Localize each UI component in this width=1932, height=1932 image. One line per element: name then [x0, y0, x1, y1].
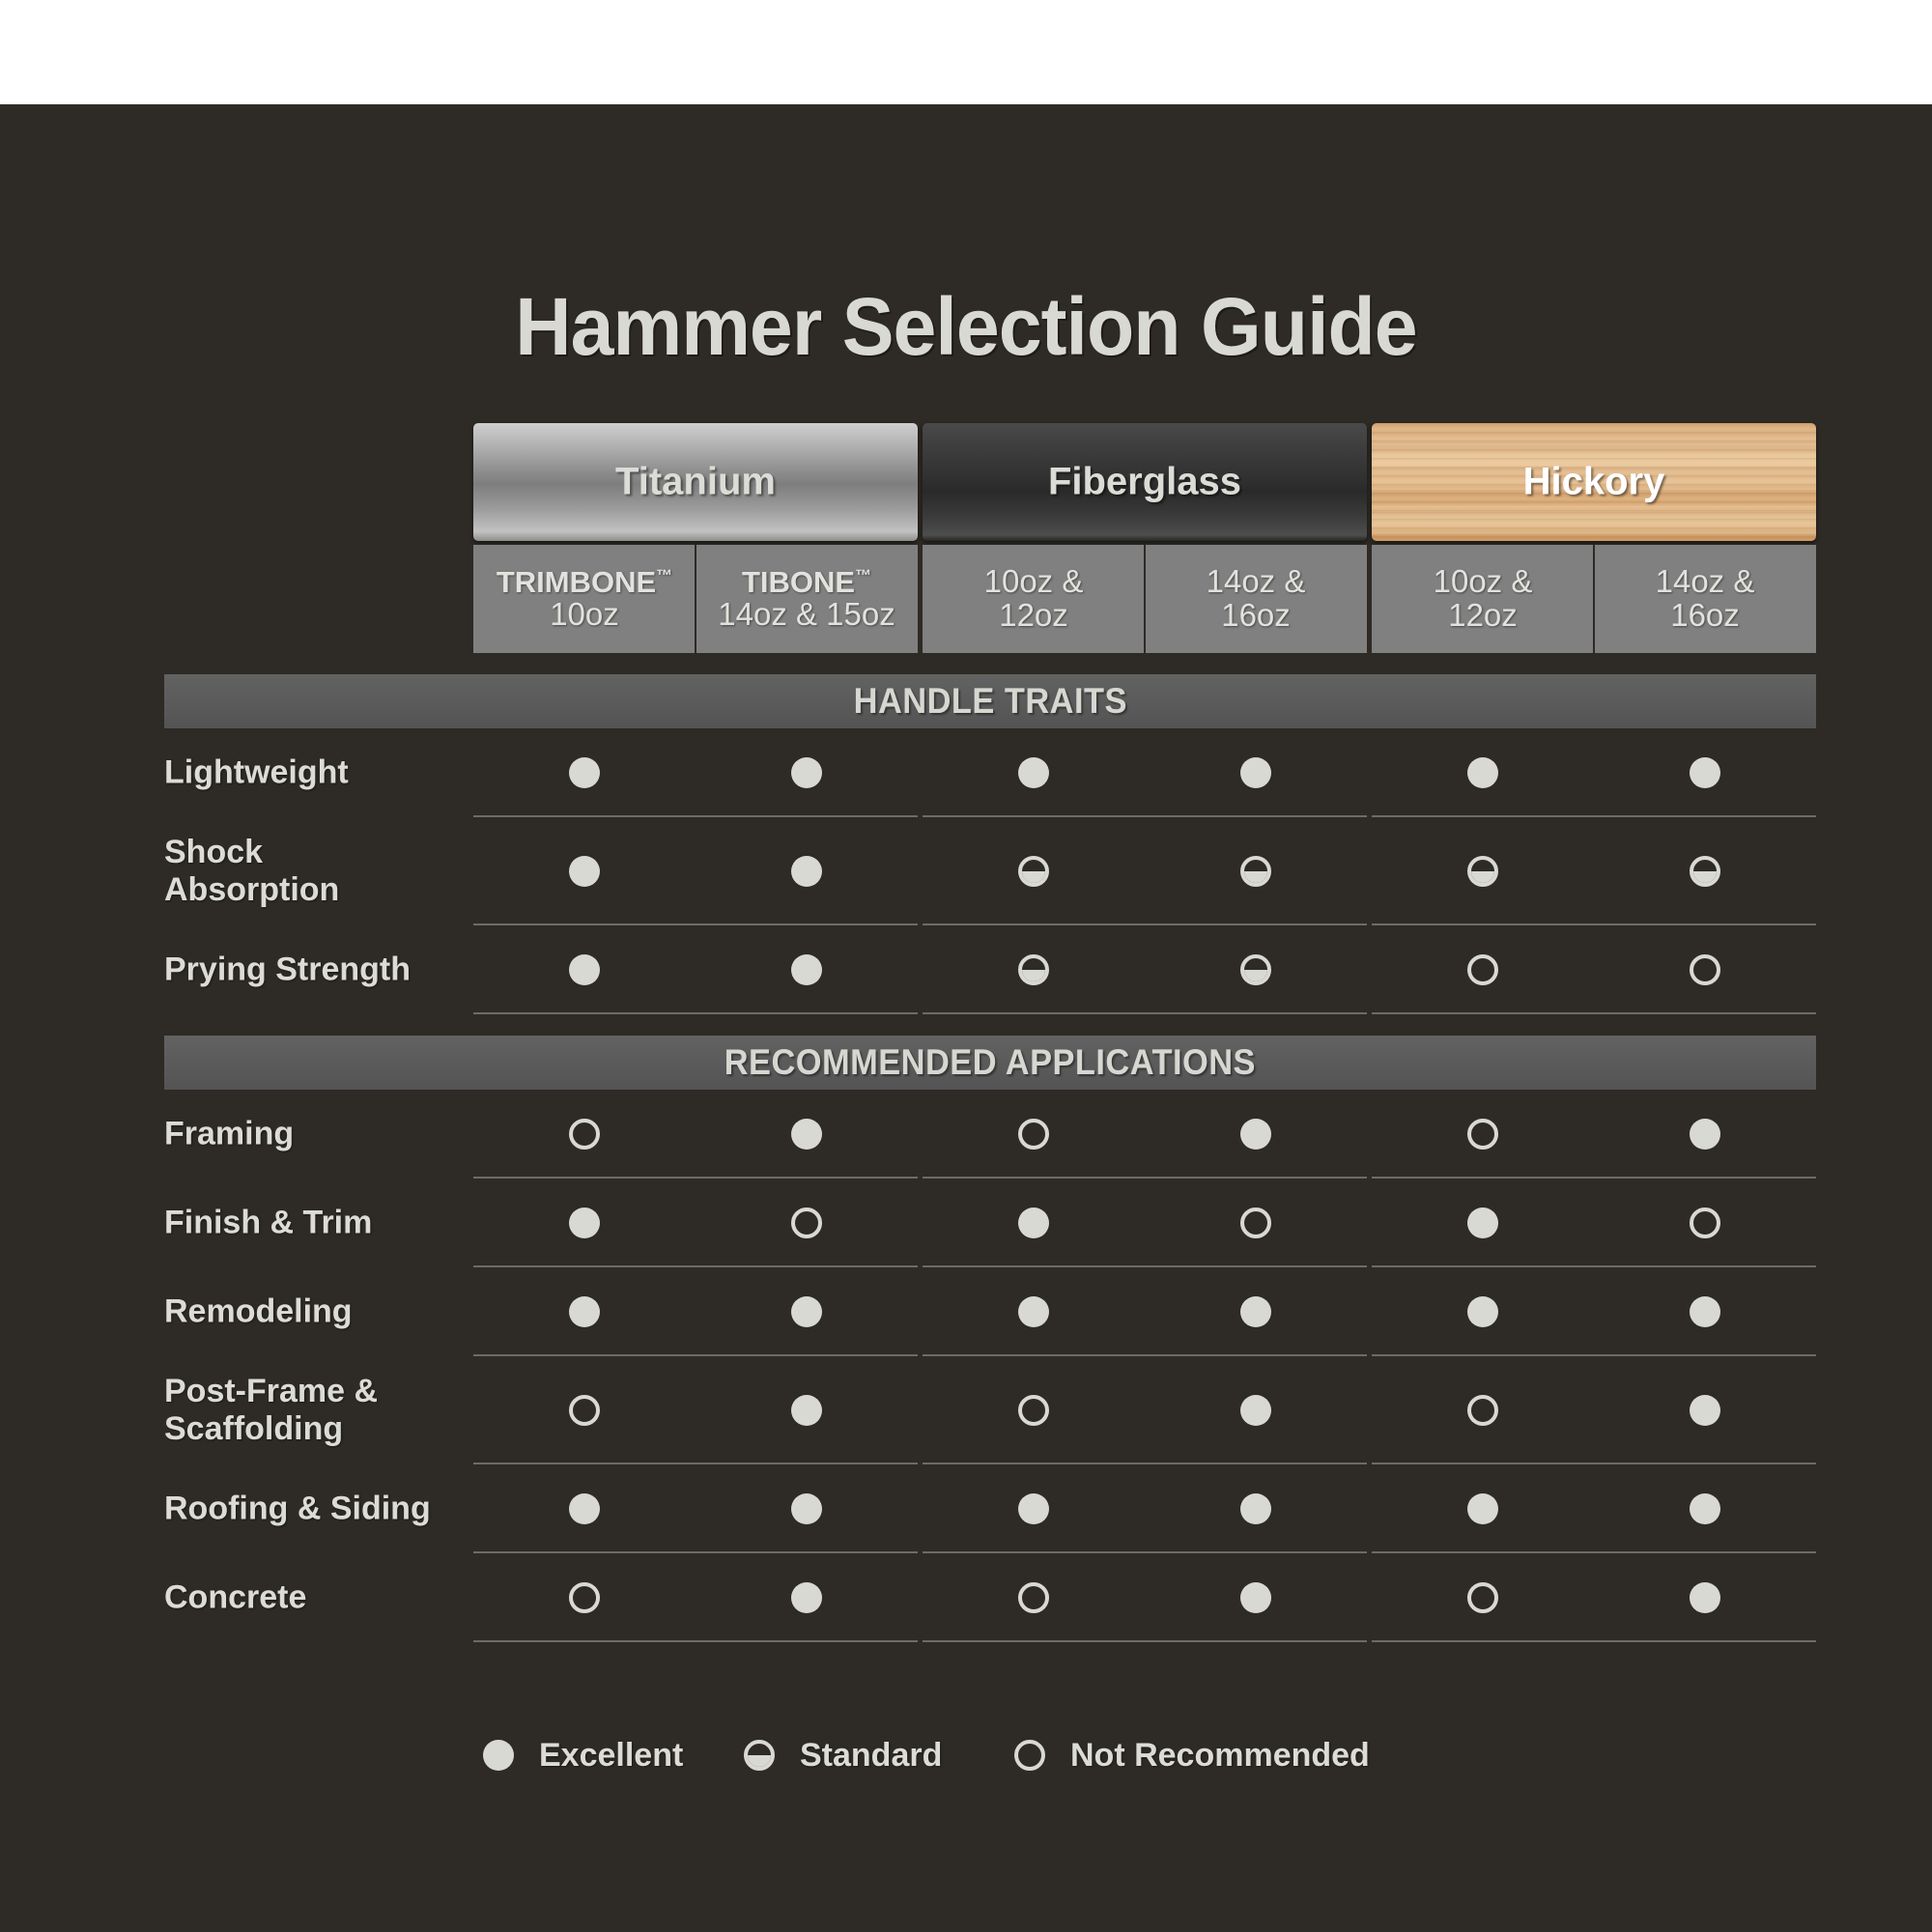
rating-cell [1227, 856, 1285, 887]
rating-full-icon [1690, 757, 1720, 788]
rating-cell [1676, 1296, 1734, 1327]
rating-full-icon [1690, 1296, 1720, 1327]
rating-cell [1005, 856, 1063, 887]
material-header-label: Fiberglass [923, 461, 1367, 504]
rating-cell [1676, 1493, 1734, 1524]
rating-full-icon [1690, 1119, 1720, 1150]
column-header-4: 14oz &16oz [1145, 545, 1367, 653]
row-label: Post-Frame &Scaffolding [164, 1373, 454, 1448]
rating-full-icon [569, 856, 600, 887]
row-divider [473, 1640, 918, 1642]
rating-cell [1005, 954, 1063, 985]
rating-full-icon [1018, 757, 1049, 788]
rating-cell [1454, 1296, 1512, 1327]
sections-container: HANDLE TRAITSLightweightShockAbsorptionP… [164, 674, 1816, 1642]
rating-half-icon [1018, 954, 1049, 985]
legend-item-label: Excellent [539, 1737, 683, 1775]
rating-cell [1227, 1582, 1285, 1613]
column-subheader-row: TRIMBONE™10ozTIBONE™14oz & 15oz10oz &12o… [164, 545, 1816, 653]
rating-full-icon [1240, 1296, 1271, 1327]
material-header-hickory: Hickory [1372, 423, 1816, 541]
rating-full-icon [1690, 1582, 1720, 1613]
rating-full-icon [791, 954, 822, 985]
table-row: Lightweight [164, 728, 1816, 817]
rating-cell [1005, 1119, 1063, 1150]
comparison-table: TitaniumFiberglassHickory TRIMBONE™10ozT… [164, 423, 1816, 1642]
rating-full-icon [1467, 1296, 1498, 1327]
rating-cell [1227, 1207, 1285, 1238]
table-row: Roofing & Siding [164, 1464, 1816, 1553]
rating-half-icon [1240, 856, 1271, 887]
rating-open-icon [569, 1395, 600, 1426]
rating-cell [778, 954, 836, 985]
row-label: Framing [164, 1115, 454, 1152]
rating-cell [1676, 1119, 1734, 1150]
rating-cell [1227, 1395, 1285, 1426]
legend-item-label: Standard [800, 1737, 942, 1775]
rating-cell [778, 1493, 836, 1524]
rating-cell [1676, 1395, 1734, 1426]
rating-open-icon [1467, 1395, 1498, 1426]
column-header-label: 14oz &16oz [1656, 565, 1755, 633]
rating-full-icon [1018, 1207, 1049, 1238]
row-label: Roofing & Siding [164, 1490, 454, 1527]
rating-full-icon [569, 1207, 600, 1238]
section-heading-label: RECOMMENDED APPLICATIONS [724, 1042, 1256, 1083]
rating-open-icon [1018, 1395, 1049, 1426]
rating-open-icon [1018, 1582, 1049, 1613]
table-row: Concrete [164, 1553, 1816, 1642]
rating-cell [1454, 1119, 1512, 1150]
rating-full-icon [483, 1740, 514, 1771]
rating-cell [555, 856, 613, 887]
table-row: Post-Frame &Scaffolding [164, 1356, 1816, 1464]
rating-full-icon [1240, 1119, 1271, 1150]
rating-half-icon [1467, 856, 1498, 887]
rating-cell [555, 1395, 613, 1426]
rating-cell [555, 1119, 613, 1150]
rating-full-icon [1467, 757, 1498, 788]
rating-open-icon [1690, 1207, 1720, 1238]
rating-cell [555, 1493, 613, 1524]
table-row: ShockAbsorption [164, 817, 1816, 925]
material-header-row: TitaniumFiberglassHickory [164, 423, 1816, 541]
guide-card: Hammer Selection Guide TitaniumFiberglas… [0, 104, 1932, 1932]
section-heading-2: RECOMMENDED APPLICATIONS [164, 1036, 1816, 1090]
row-divider [1372, 1640, 1816, 1642]
column-header-label: 14oz &16oz [1207, 565, 1306, 633]
table-row: Framing [164, 1090, 1816, 1179]
section-heading-1: HANDLE TRAITS [164, 674, 1816, 728]
section-heading-label: HANDLE TRAITS [853, 681, 1126, 722]
row-label: Concrete [164, 1578, 454, 1616]
column-header-label: TRIMBONE™10oz [497, 566, 672, 633]
rating-cell [1454, 1207, 1512, 1238]
row-label: Remodeling [164, 1293, 454, 1330]
rating-full-icon [1240, 1493, 1271, 1524]
rating-full-icon [1240, 1395, 1271, 1426]
rating-cell [1227, 757, 1285, 788]
rating-full-icon [791, 757, 822, 788]
rating-cell [1005, 1582, 1063, 1613]
rating-full-icon [1690, 1395, 1720, 1426]
rating-cell [778, 1207, 836, 1238]
rating-cell [1005, 1207, 1063, 1238]
rating-full-icon [1240, 757, 1271, 788]
table-row: Prying Strength [164, 925, 1816, 1014]
rating-cell [1676, 1582, 1734, 1613]
rating-cell [1454, 1582, 1512, 1613]
rating-full-icon [1240, 1582, 1271, 1613]
legend-item-full: Excellent [483, 1721, 683, 1789]
page-root: Hammer Selection Guide TitaniumFiberglas… [0, 0, 1932, 1932]
rating-full-icon [791, 1395, 822, 1426]
rating-cell [1454, 954, 1512, 985]
rating-full-icon [569, 1296, 600, 1327]
rating-cell [778, 1395, 836, 1426]
material-header-fiberglass: Fiberglass [923, 423, 1367, 541]
material-header-label: Hickory [1372, 461, 1816, 504]
rating-full-icon [1018, 1296, 1049, 1327]
rating-half-icon [1240, 954, 1271, 985]
column-header-3: 10oz &12oz [923, 545, 1145, 653]
rating-cell [555, 757, 613, 788]
legend-item-half: Standard [744, 1721, 942, 1789]
rating-full-icon [1018, 1493, 1049, 1524]
material-header-titanium: Titanium [473, 423, 918, 541]
table-row: Finish & Trim [164, 1179, 1816, 1267]
rating-full-icon [569, 954, 600, 985]
legend-item-label: Not Recommended [1070, 1737, 1370, 1775]
rating-cell [1227, 1296, 1285, 1327]
rating-full-icon [791, 1296, 822, 1327]
rating-open-icon [1467, 1582, 1498, 1613]
rating-full-icon [1467, 1207, 1498, 1238]
rating-full-icon [569, 757, 600, 788]
column-header-label: TIBONE™14oz & 15oz [718, 566, 895, 633]
column-header-6: 14oz &16oz [1594, 545, 1816, 653]
rating-cell [1676, 954, 1734, 985]
row-divider [923, 1640, 1367, 1642]
row-divider [1372, 1012, 1816, 1014]
rating-open-icon [791, 1207, 822, 1238]
rating-cell [555, 1207, 613, 1238]
rating-cell [1005, 757, 1063, 788]
row-label: Finish & Trim [164, 1204, 454, 1241]
column-header-5: 10oz &12oz [1372, 545, 1594, 653]
rating-full-icon [1690, 1493, 1720, 1524]
rating-open-icon [569, 1119, 600, 1150]
rating-cell [778, 1582, 836, 1613]
rating-cell [1454, 856, 1512, 887]
rating-full-icon [791, 856, 822, 887]
rating-open-icon [1467, 1119, 1498, 1150]
material-header-label: Titanium [473, 461, 918, 504]
rating-open-icon [1240, 1207, 1271, 1238]
rating-full-icon [791, 1582, 822, 1613]
legend-item-open: Not Recommended [1014, 1721, 1370, 1789]
rating-open-icon [1018, 1119, 1049, 1150]
rating-open-icon [1690, 954, 1720, 985]
rating-full-icon [791, 1119, 822, 1150]
rating-open-icon [1467, 954, 1498, 985]
rating-half-icon [1690, 856, 1720, 887]
rating-cell [1676, 856, 1734, 887]
rating-cell [1227, 1493, 1285, 1524]
legend: ExcellentStandardNot Recommended [164, 1721, 1816, 1789]
column-header-1: TRIMBONE™10oz [473, 545, 696, 653]
page-title: Hammer Selection Guide [39, 280, 1893, 374]
rating-cell [778, 856, 836, 887]
rating-half-icon [744, 1740, 775, 1771]
column-header-2: TIBONE™14oz & 15oz [696, 545, 918, 653]
row-label: ShockAbsorption [164, 834, 454, 909]
rating-cell [778, 1119, 836, 1150]
rating-cell [1005, 1395, 1063, 1426]
rating-cell [555, 1296, 613, 1327]
rating-cell [1227, 1119, 1285, 1150]
rating-full-icon [569, 1493, 600, 1524]
rating-cell [1227, 954, 1285, 985]
rating-open-icon [1014, 1740, 1045, 1771]
rating-cell [1454, 1493, 1512, 1524]
column-header-label: 10oz &12oz [1434, 565, 1533, 633]
row-divider [473, 1012, 918, 1014]
rating-cell [1005, 1493, 1063, 1524]
rating-half-icon [1018, 856, 1049, 887]
rating-cell [1676, 757, 1734, 788]
row-label: Lightweight [164, 753, 454, 791]
rating-cell [555, 954, 613, 985]
rating-cell [778, 757, 836, 788]
rating-cell [778, 1296, 836, 1327]
rating-cell [1454, 1395, 1512, 1426]
row-label: Prying Strength [164, 951, 454, 988]
rating-full-icon [1467, 1493, 1498, 1524]
row-divider [923, 1012, 1367, 1014]
rating-cell [1454, 757, 1512, 788]
table-row: Remodeling [164, 1267, 1816, 1356]
rating-cell [1005, 1296, 1063, 1327]
rating-cell [1676, 1207, 1734, 1238]
rating-full-icon [791, 1493, 822, 1524]
column-header-label: 10oz &12oz [984, 565, 1084, 633]
rating-cell [555, 1582, 613, 1613]
rating-open-icon [569, 1582, 600, 1613]
